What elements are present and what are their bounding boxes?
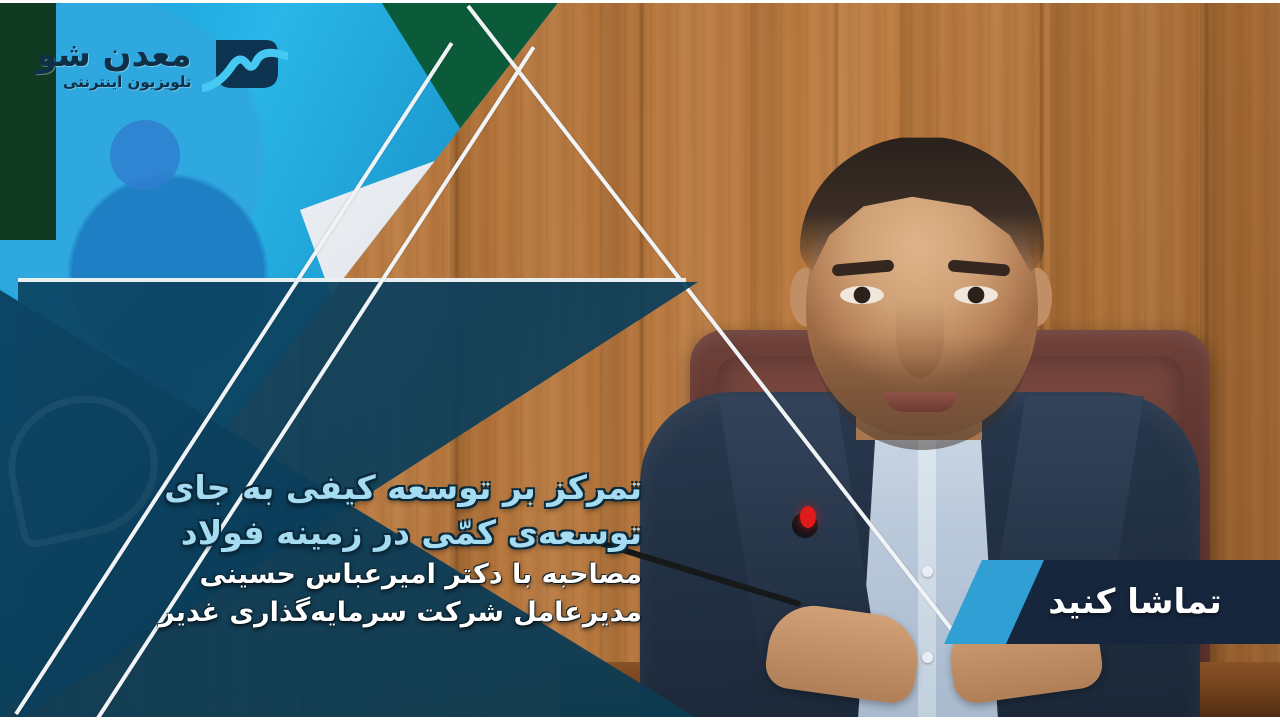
eye — [840, 286, 884, 304]
mountain-wave-logo-icon — [202, 26, 288, 102]
caption-text-block: تمرکز بر توسعه کیفی به جای توسعه‌ی کمّی … — [0, 466, 664, 632]
subtitle-line-1: مصاحبه با دکتر امیرعباس حسینی — [0, 556, 664, 594]
shirt-button — [922, 566, 933, 577]
brand-subtitle: تلویزیون اینترنتی — [63, 75, 191, 90]
eye — [954, 286, 998, 304]
microphone-indicator-light — [800, 506, 816, 528]
brand-title: معدن شو — [36, 38, 192, 72]
white-horizontal-rule — [18, 278, 686, 282]
thumbnail-canvas: تمرکز بر توسعه کیفی به جای توسعه‌ی کمّی … — [0, 0, 1280, 720]
brand-logo[interactable]: معدن شو تلویزیون اینترنتی — [36, 26, 288, 102]
flag-dot — [110, 120, 180, 190]
mouth — [884, 392, 958, 412]
headline-line-2: توسعه‌ی کمّی در زمینه فولاد — [0, 511, 664, 556]
top-white-rule — [0, 0, 1280, 3]
nose — [896, 300, 944, 378]
watch-badge-body[interactable]: تماشا کنید — [1006, 560, 1280, 644]
headline-line-1: تمرکز بر توسعه کیفی به جای — [0, 466, 664, 511]
watch-badge[interactable]: تماشا کنید — [944, 552, 1280, 644]
watch-badge-label: تماشا کنید — [1048, 582, 1238, 622]
brand-logo-text: معدن شو تلویزیون اینترنتی — [36, 38, 192, 90]
shirt-button — [922, 652, 933, 663]
subtitle-line-2: مدیرعامل شرکت سرمایه‌گذاری غدیر — [0, 594, 664, 632]
